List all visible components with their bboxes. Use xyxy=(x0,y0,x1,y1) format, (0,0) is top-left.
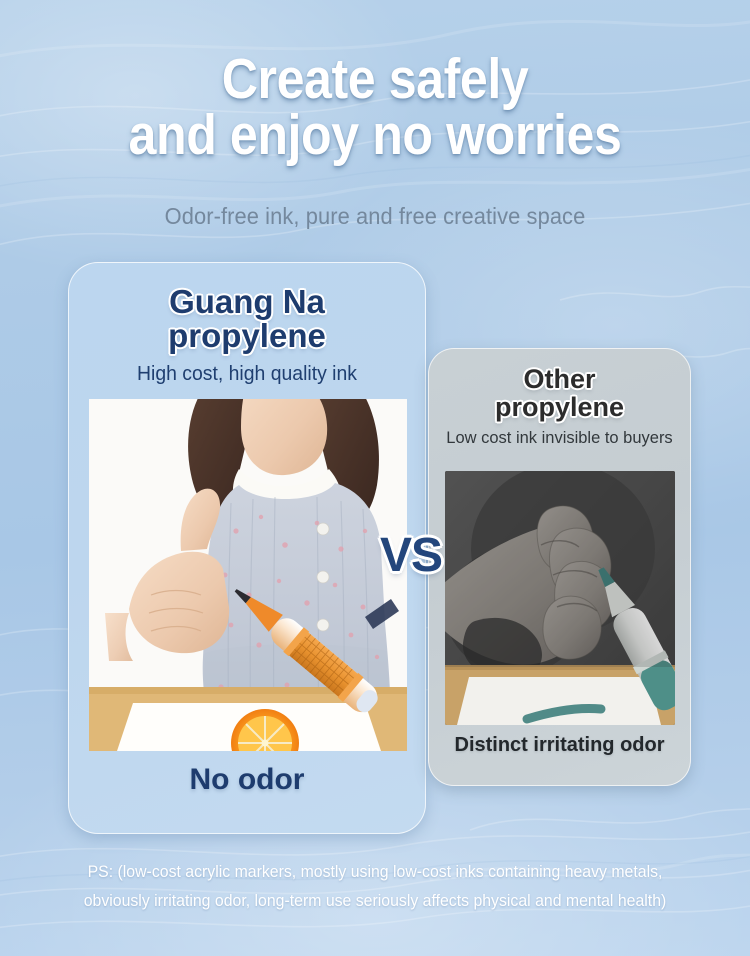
footnote-text: PS: (low-cost acrylic markers, mostly us… xyxy=(68,858,682,916)
card-right-caption: Distinct irritating odor xyxy=(429,734,690,757)
page-subtitle: Odor-free ink, pure and free creative sp… xyxy=(19,203,732,230)
poster-root: Create safely and enjoy no worries Odor-… xyxy=(0,0,750,956)
card-left-subtitle: High cost, high quality ink xyxy=(74,363,419,386)
comparison-card-left: Guang Na propylene High cost, high quali… xyxy=(68,262,426,834)
vs-label: VS xyxy=(380,528,442,583)
card-left-caption: No odor xyxy=(69,763,425,797)
card-right-photo xyxy=(445,471,675,725)
card-right-title: Other propylene xyxy=(429,365,690,421)
card-left-title: Guang Na propylene xyxy=(69,285,425,354)
page-title: Create safely and enjoy no worries xyxy=(45,52,705,164)
comparison-card-right: Other propylene Low cost ink invisible t… xyxy=(428,348,691,786)
card-left-photo xyxy=(89,399,407,751)
card-right-subtitle: Low cost ink invisible to buyers xyxy=(433,428,686,448)
